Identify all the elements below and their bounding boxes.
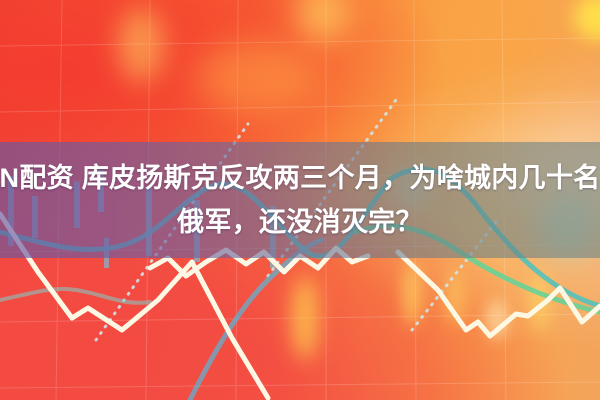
headline-text: N配资 库皮扬斯克反攻两三个月，为啥城内几十名 俄军，还没消灭完？	[0, 142, 600, 258]
headline-line-2: 俄军，还没消灭完？	[177, 200, 423, 244]
banner-image: N配资 库皮扬斯克反攻两三个月，为啥城内几十名 俄军，还没消灭完？	[0, 0, 600, 400]
headline-line-1: N配资 库皮扬斯克反攻两三个月，为啥城内几十名	[0, 156, 600, 200]
